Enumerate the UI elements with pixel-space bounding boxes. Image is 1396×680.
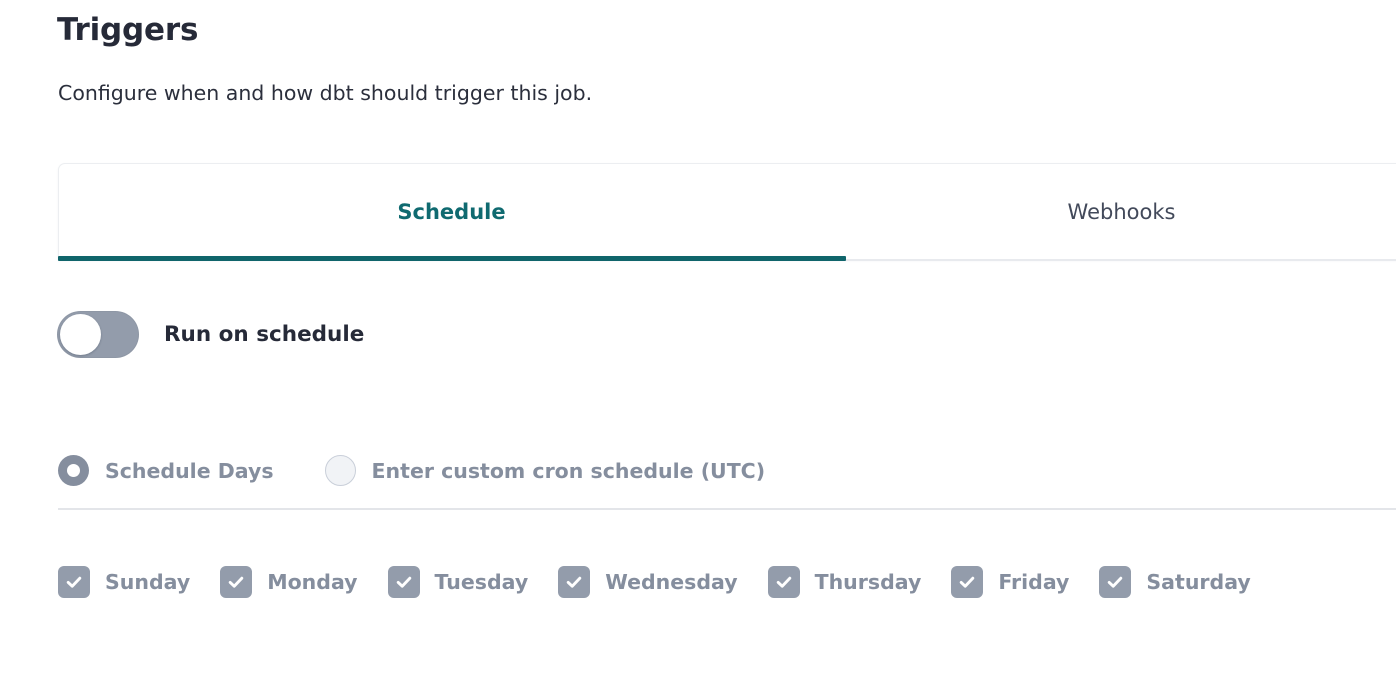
- run-on-schedule-toggle[interactable]: [57, 311, 139, 358]
- radio-label-custom-cron: Enter custom cron schedule (UTC): [372, 459, 766, 483]
- tab-schedule[interactable]: Schedule: [58, 163, 845, 262]
- schedule-mode-divider: [58, 508, 1396, 510]
- checkmark-icon: [58, 566, 90, 598]
- day-checkbox-monday[interactable]: Monday: [220, 566, 357, 598]
- radio-label-schedule-days: Schedule Days: [105, 459, 274, 483]
- day-checkbox-tuesday[interactable]: Tuesday: [388, 566, 529, 598]
- day-label-friday: Friday: [998, 570, 1069, 594]
- checkmark-icon: [951, 566, 983, 598]
- checkmark-icon: [1099, 566, 1131, 598]
- page-subtitle: Configure when and how dbt should trigge…: [58, 80, 592, 107]
- run-on-schedule-row: Run on schedule: [57, 311, 364, 358]
- checkmark-icon: [768, 566, 800, 598]
- checkmark-icon: [558, 566, 590, 598]
- tab-webhooks[interactable]: Webhooks: [845, 163, 1396, 262]
- radio-unselected-icon: [325, 455, 356, 486]
- day-checkbox-saturday[interactable]: Saturday: [1099, 566, 1250, 598]
- tab-list: Schedule Webhooks: [58, 163, 1396, 262]
- day-checkbox-wednesday[interactable]: Wednesday: [558, 566, 737, 598]
- checkmark-icon: [388, 566, 420, 598]
- radio-selected-icon: [58, 455, 89, 486]
- day-checkbox-friday[interactable]: Friday: [951, 566, 1069, 598]
- toggle-knob-icon: [60, 314, 101, 355]
- day-label-sunday: Sunday: [105, 570, 190, 594]
- triggers-panel: Triggers Configure when and how dbt shou…: [0, 0, 1396, 680]
- checkmark-icon: [220, 566, 252, 598]
- tab-active-underline: [58, 256, 846, 261]
- day-checkbox-sunday[interactable]: Sunday: [58, 566, 190, 598]
- tab-schedule-label: Schedule: [397, 202, 505, 223]
- tab-webhooks-label: Webhooks: [1068, 202, 1176, 223]
- day-label-wednesday: Wednesday: [605, 570, 737, 594]
- day-label-monday: Monday: [267, 570, 357, 594]
- day-label-saturday: Saturday: [1146, 570, 1250, 594]
- page-title: Triggers: [57, 12, 198, 49]
- day-label-thursday: Thursday: [815, 570, 922, 594]
- day-checkbox-thursday[interactable]: Thursday: [768, 566, 922, 598]
- schedule-days-group: Sunday Monday Tuesday Wednesday Thursday: [58, 566, 1251, 598]
- radio-option-schedule-days[interactable]: Schedule Days: [58, 455, 274, 486]
- run-on-schedule-label: Run on schedule: [164, 322, 364, 347]
- day-label-tuesday: Tuesday: [435, 570, 529, 594]
- radio-option-custom-cron[interactable]: Enter custom cron schedule (UTC): [325, 455, 766, 486]
- schedule-mode-radio-group: Schedule Days Enter custom cron schedule…: [58, 455, 765, 486]
